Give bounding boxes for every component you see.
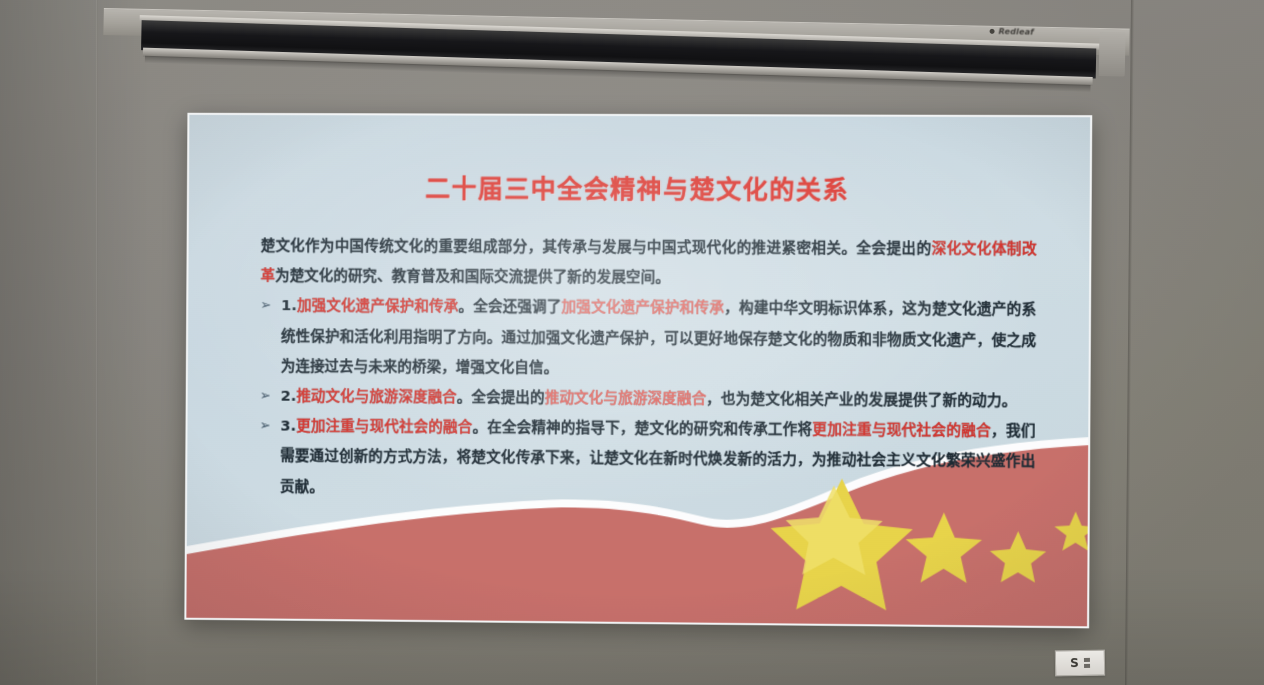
bullet-marker-icon: ➢ bbox=[260, 382, 271, 412]
bullet-item-1: ➢1.加强文化遗产保护和传承。全会还强调了加强文化遗产保护和传承，构建中华文明标… bbox=[260, 291, 1037, 386]
item-2-number: 2. bbox=[281, 388, 297, 405]
item-3-number: 3. bbox=[280, 418, 296, 435]
item-2-repeat-highlight: 推动文化与旅游深度融合 bbox=[545, 389, 707, 407]
item-2-lead: 。全会提出的 bbox=[457, 389, 545, 407]
photo-scene: Redleaf bbox=[0, 0, 1264, 685]
brand-dot-icon bbox=[990, 28, 995, 33]
sticker-marks-icon bbox=[1084, 658, 1090, 668]
intro-paragraph: 楚文化作为中国传统文化的重要组成部分，其传承与发展与中国式现代化的推进紧密相关。… bbox=[261, 231, 1037, 295]
projected-slide: 二十届三中全会精神与楚文化的关系 楚文化作为中国传统文化的重要组成部分，其传承与… bbox=[184, 113, 1092, 629]
sticker-glyph-icon: S bbox=[1070, 657, 1079, 669]
item-3-lead: 。在全会精神的指导下，楚文化的研究和传承工作将 bbox=[472, 419, 812, 438]
slide-title: 二十届三中全会精神与楚文化的关系 bbox=[189, 168, 1090, 207]
bullet-marker-icon: ➢ bbox=[260, 291, 271, 321]
slide-canvas: 二十届三中全会精神与楚文化的关系 楚文化作为中国传统文化的重要组成部分，其传承与… bbox=[184, 113, 1092, 629]
housing-endcap bbox=[1099, 32, 1126, 77]
intro-text-part1: 楚文化作为中国传统文化的重要组成部分，其传承与发展与中国式现代化的推进紧密相关。… bbox=[261, 237, 932, 257]
item-3-heading: 更加注重与现代社会的融合 bbox=[296, 418, 472, 436]
item-2-heading: 推动文化与旅游深度融合 bbox=[296, 388, 457, 406]
wall-seam-left bbox=[96, 0, 98, 685]
bullet-item-3: ➢3.更加注重与现代社会的融合。在全会精神的指导下，楚文化的研究和传承工作将更加… bbox=[259, 412, 1036, 508]
projector-brand-label: Redleaf bbox=[989, 24, 1069, 40]
item-1-lead: 。全会还强调了 bbox=[458, 298, 561, 316]
wall-sticker: S bbox=[1055, 650, 1105, 677]
item-1-repeat-highlight: 加强文化遗产保护和传承 bbox=[561, 299, 724, 317]
item-1-number: 1. bbox=[281, 298, 297, 315]
slide-body: 楚文化作为中国传统文化的重要组成部分，其传承与发展与中国式现代化的推进紧密相关。… bbox=[259, 231, 1037, 508]
intro-text-part2: 为楚文化的研究、教育普及和国际交流提供了新的发展空间。 bbox=[275, 267, 670, 286]
bullet-marker-icon: ➢ bbox=[260, 412, 271, 442]
item-2-body: ，也为楚文化相关产业的发展提供了新的动力。 bbox=[706, 390, 1016, 409]
brand-name: Redleaf bbox=[999, 26, 1035, 36]
item-1-heading: 加强文化遗产保护和传承 bbox=[297, 298, 459, 316]
item-3-repeat-highlight: 更加注重与现代社会的融合 bbox=[812, 421, 991, 439]
